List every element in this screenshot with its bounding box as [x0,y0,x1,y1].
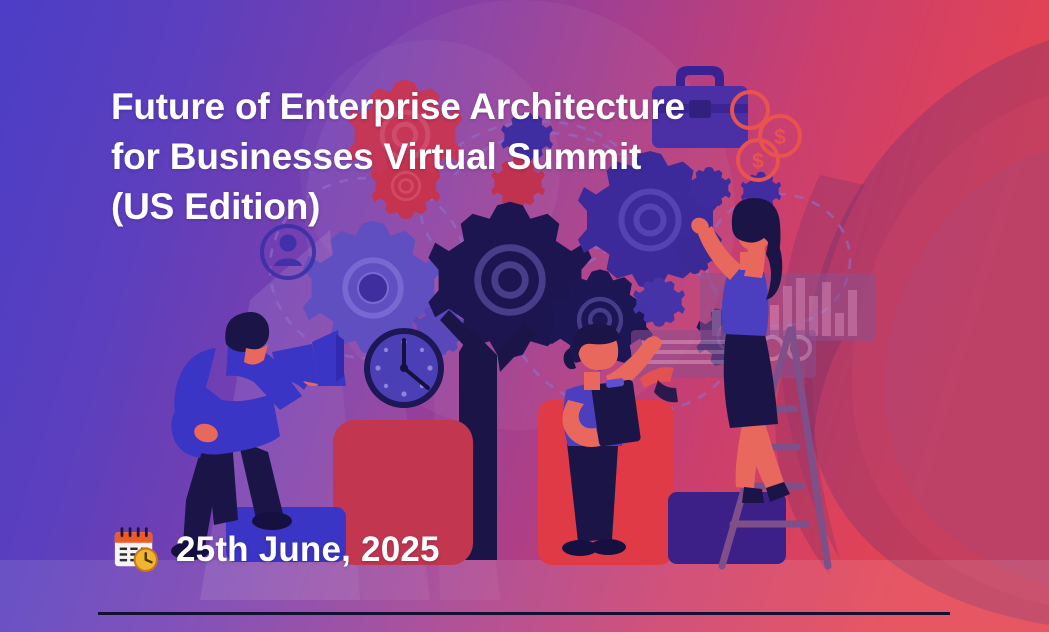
bottom-divider [98,612,950,615]
event-banner: $ $ [0,0,1049,632]
title-line-1: Future of Enterprise Architecture [111,82,811,132]
event-date-row: 25th June, 2025 [110,524,440,576]
event-date-text: 25th June, 2025 [176,530,440,570]
user-avatar-icon [262,226,314,278]
wall-clock [364,328,444,408]
banner-title: Future of Enterprise Architecture for Bu… [111,82,811,232]
calendar-clock-icon [110,524,162,576]
title-line-3: (US Edition) [111,182,811,232]
title-line-2: for Businesses Virtual Summit [111,132,811,182]
